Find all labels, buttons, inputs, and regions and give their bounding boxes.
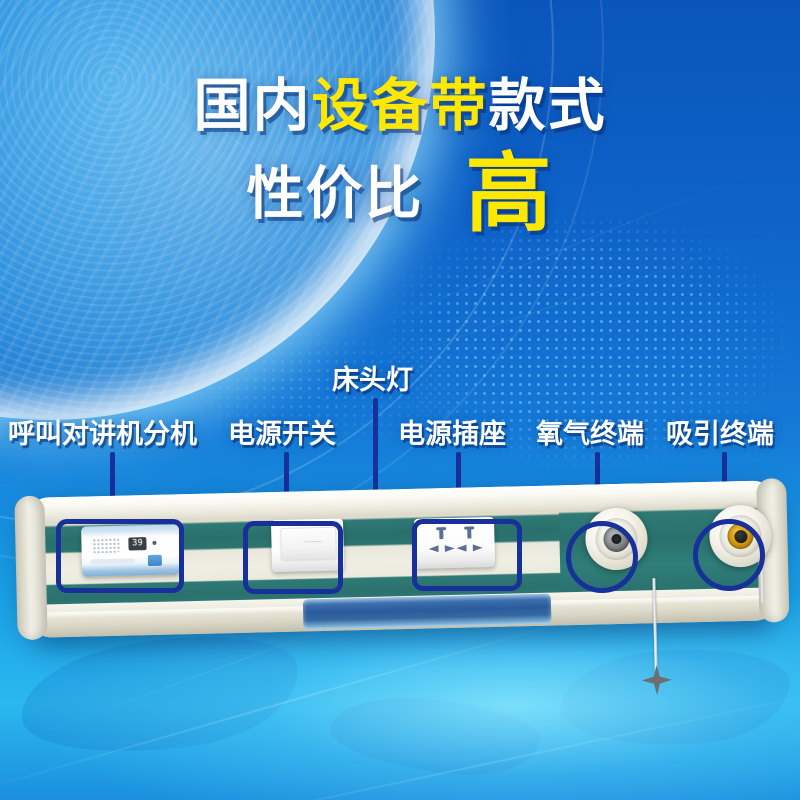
highlight-circle-oxygen-terminal bbox=[566, 521, 638, 593]
headline-text-accent-large: 高 bbox=[466, 146, 554, 242]
highlight-box-nurse-call-intercom bbox=[56, 519, 184, 593]
bed-lamp-rail[interactable] bbox=[303, 594, 552, 630]
callout-label-power-switch: 电源开关 bbox=[228, 412, 336, 451]
headline-line-1: 国内设备带款式 bbox=[0, 78, 800, 135]
highlight-box-power-switch bbox=[243, 521, 343, 594]
highlight-circle-suction-terminal bbox=[693, 519, 765, 591]
promo-banner: 国内设备带款式 性价比高 呼叫对讲机分机 电源开关 床头灯 电源插座 氧气终端 … bbox=[0, 0, 800, 800]
panel-left-end-cap bbox=[14, 496, 47, 641]
callout-label-suction-terminal: 吸引终端 bbox=[666, 412, 774, 451]
highlight-box-power-socket bbox=[412, 519, 522, 591]
headline-text-white: 性价比 bbox=[247, 162, 424, 226]
callout-label-nurse-call-intercom: 呼叫对讲机分机 bbox=[8, 412, 197, 451]
headline-text-accent: 设备带 bbox=[312, 74, 489, 138]
headline-text-white: 国内 bbox=[194, 74, 312, 138]
callout-label-oxygen-terminal: 氧气终端 bbox=[536, 412, 644, 451]
headline-text-white: 款式 bbox=[489, 74, 607, 138]
callout-label-bed-lamp: 床头灯 bbox=[332, 358, 413, 397]
headline-block: 国内设备带款式 性价比高 bbox=[0, 78, 800, 237]
headline-line-2: 性价比高 bbox=[0, 151, 800, 237]
callout-label-power-socket: 电源插座 bbox=[398, 412, 506, 451]
